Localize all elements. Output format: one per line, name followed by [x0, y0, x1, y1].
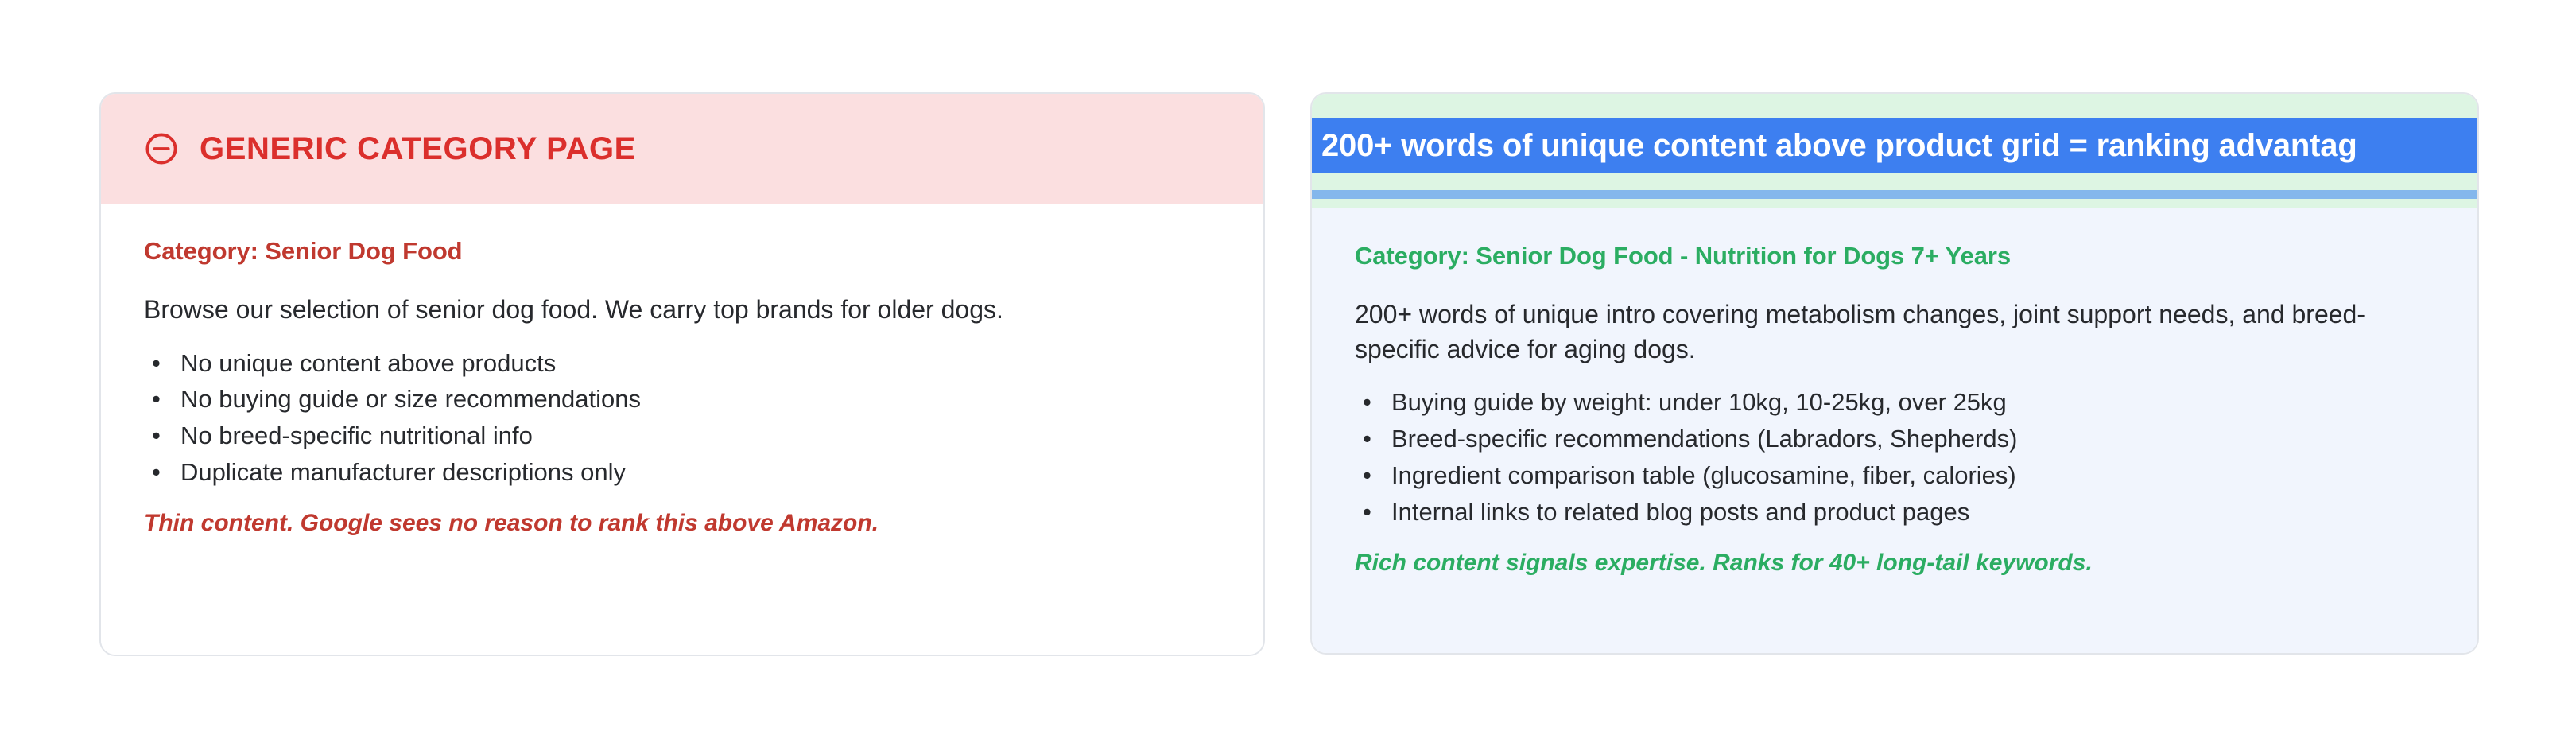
header-selection-highlight[interactable]: 200+ words of unique content above produ…	[1312, 118, 2477, 173]
comparison-canvas: GENERIC CATEGORY PAGE Category: Senior D…	[0, 0, 2576, 754]
generic-category-card: GENERIC CATEGORY PAGE Category: Senior D…	[99, 92, 1265, 656]
optimized-category-body: Category: Senior Dog Food - Nutrition fo…	[1312, 208, 2477, 655]
good-points-list: Buying guide by weight: under 10kg, 10-2…	[1355, 384, 2434, 531]
good-verdict-text: Rich content signals expertise. Ranks fo…	[1355, 550, 2434, 577]
list-item: Buying guide by weight: under 10kg, 10-2…	[1355, 384, 2434, 421]
bad-points-list: No unique content above products No buyi…	[144, 345, 1220, 492]
bad-verdict-text: Thin content. Google sees no reason to r…	[144, 510, 1220, 537]
optimized-category-header: 200+ words of unique content above produ…	[1312, 94, 2477, 208]
list-item: Duplicate manufacturer descriptions only	[144, 454, 1220, 491]
generic-category-body: Category: Senior Dog Food Browse our sel…	[101, 204, 1263, 656]
list-item: No unique content above products	[144, 345, 1220, 382]
list-item: No buying guide or size recommendations	[144, 381, 1220, 418]
bad-category-label: Category: Senior Dog Food	[144, 237, 1220, 266]
optimized-category-card: 200+ words of unique content above produ…	[1310, 92, 2479, 655]
list-item: Internal links to related blog posts and…	[1355, 494, 2434, 531]
generic-category-title: GENERIC CATEGORY PAGE	[200, 131, 636, 167]
list-item: Ingredient comparison table (glucosamine…	[1355, 457, 2434, 494]
list-item: Breed-specific recommendations (Labrador…	[1355, 421, 2434, 457]
header-divider-rule	[1312, 190, 2477, 199]
generic-category-header: GENERIC CATEGORY PAGE	[101, 94, 1263, 204]
bad-intro-text: Browse our selection of senior dog food.…	[144, 293, 1185, 328]
minus-circle-icon	[144, 131, 179, 166]
good-intro-text: 200+ words of unique intro covering meta…	[1355, 297, 2388, 367]
list-item: No breed-specific nutritional info	[144, 418, 1220, 454]
optimized-category-title: 200+ words of unique content above produ…	[1312, 128, 2357, 164]
good-category-label: Category: Senior Dog Food - Nutrition fo…	[1355, 242, 2434, 270]
